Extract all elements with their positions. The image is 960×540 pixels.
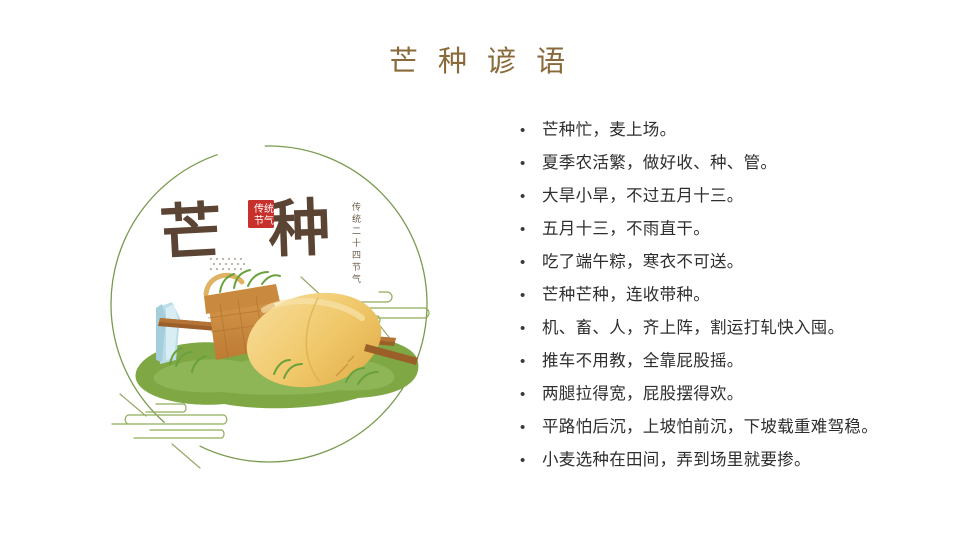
mangzhong-illustration: 芒 种 传统 节气 传 [96,132,442,480]
list-item: • 大旱小旱，不过五月十三。 [520,180,940,213]
list-item: • 小麦选种在田间，弄到场里就要掺。 [520,444,940,477]
calligraphy-char-zhong: 种 [267,195,331,265]
proverb-text: 五月十三，不雨直干。 [542,213,710,246]
list-item: • 五月十三，不雨直干。 [520,213,940,246]
list-bullet-icon: • [520,180,542,213]
list-item: • 芒种忙，麦上场。 [520,114,940,147]
list-bullet-icon: • [520,444,542,477]
proverb-text: 小麦选种在田间，弄到场里就要掺。 [542,444,811,477]
list-bullet-icon: • [520,345,542,378]
slide-canvas: 芒 种 谚 语 [0,0,960,540]
list-bullet-icon: • [520,114,542,147]
svg-text:四: 四 [352,250,361,260]
proverb-text: 芒种忙，麦上场。 [542,114,676,147]
cloud-line-bottom-left-icon [112,394,227,468]
proverb-list: • 芒种忙，麦上场。 • 夏季农活繁，做好收、种、管。 • 大旱小旱，不过五月十… [520,114,940,477]
svg-text:气: 气 [352,273,361,284]
proverb-text: 芒种芒种，连收带种。 [542,279,710,312]
calligraphy-char-mang: 芒 [158,198,223,269]
proverb-text: 夏季农活繁，做好收、种、管。 [542,147,777,180]
proverb-text: 平路怕后沉，上坡怕前沉，下坡载重难驾稳。 [542,411,878,444]
svg-text:二: 二 [352,226,361,236]
proverb-text: 推车不用教，全靠屁股摇。 [542,345,744,378]
proverb-text: 吃了端午粽，寒衣不可送。 [542,246,744,279]
list-item: • 机、畜、人，齐上阵，割运打轧快入囤。 [520,312,940,345]
seal-line-2: 节气 [254,214,274,227]
list-bullet-icon: • [520,312,542,345]
list-bullet-icon: • [520,411,542,444]
proverb-text: 机、畜、人，齐上阵，割运打轧快入囤。 [542,312,844,345]
list-bullet-icon: • [520,147,542,180]
list-bullet-icon: • [520,279,542,312]
list-item: • 平路怕后沉，上坡怕前沉，下坡载重难驾稳。 [520,411,940,444]
svg-text:十: 十 [352,237,361,248]
proverb-text: 两腿拉得宽，屁股摆得欢。 [542,378,744,411]
svg-text:传: 传 [352,201,361,212]
page-title: 芒 种 谚 语 [0,38,960,80]
list-item: • 夏季农活繁，做好收、种、管。 [520,147,940,180]
red-seal-stamp-icon: 传统 节气 [248,200,274,228]
list-item: • 两腿拉得宽，屁股摆得欢。 [520,378,940,411]
svg-text:统: 统 [352,213,361,224]
svg-text:节: 节 [352,262,361,272]
list-item: • 吃了端午粽，寒衣不可送。 [520,246,940,279]
list-bullet-icon: • [520,246,542,279]
cloth-bundle-icon [156,302,180,364]
list-item: • 推车不用教，全靠屁股摇。 [520,345,940,378]
vertical-caption: 传 统 二 十 四 节 气 [352,201,361,284]
list-item: • 芒种芒种，连收带种。 [520,279,940,312]
proverb-text: 大旱小旱，不过五月十三。 [542,180,744,213]
seal-line-1: 传统 [254,202,274,215]
list-bullet-icon: • [520,378,542,411]
list-bullet-icon: • [520,213,542,246]
